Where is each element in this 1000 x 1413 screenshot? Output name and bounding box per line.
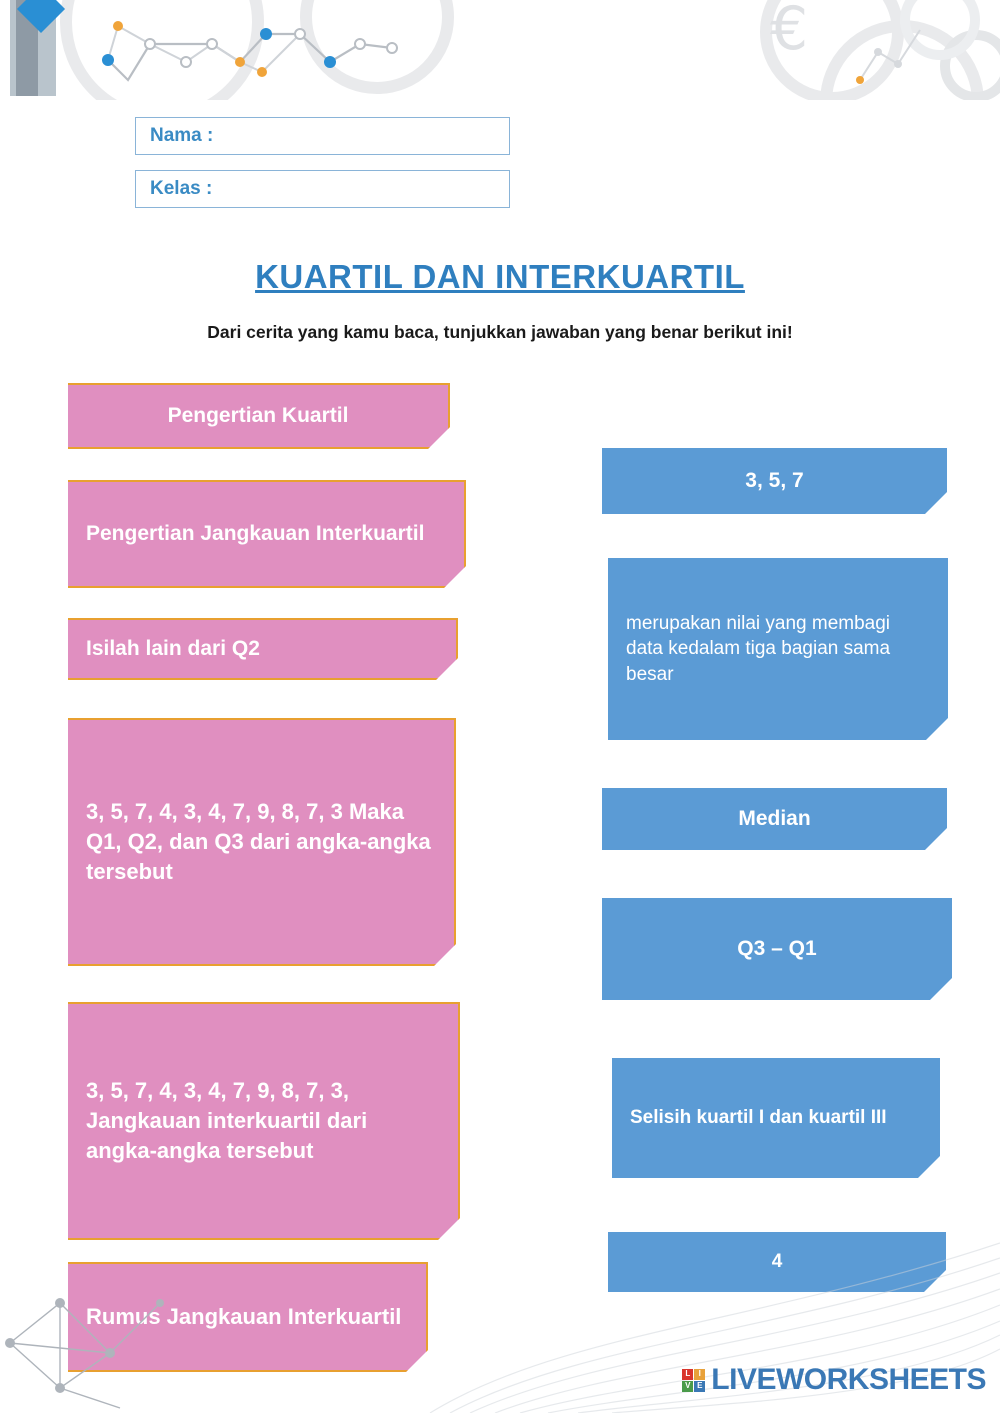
left-card-4-label: 3, 5, 7, 4, 3, 4, 7, 9, 8, 7, 3 Maka Q1,… [86,797,436,886]
kelas-label: Kelas : [150,178,212,200]
logo-letter-l: L [682,1369,693,1380]
right-card-1-label: 3, 5, 7 [745,467,803,495]
logo-wordmark: LIVEWORKSHEETS [711,1363,986,1397]
logo-letter-i: I [694,1369,705,1380]
nama-label: Nama : [150,125,213,147]
liveworksheets-logo: L I V E LIVEWORKSHEETS [682,1363,986,1397]
right-card-1[interactable]: 3, 5, 7 [602,448,947,514]
right-card-5[interactable]: Selisih kuartil I dan kuartil III [612,1058,940,1178]
logo-letter-grid: L I V E [682,1369,705,1392]
right-card-6-label: 4 [772,1249,783,1275]
left-card-6[interactable]: Rumus Jangkauan Interkuartil [68,1262,428,1372]
logo-letter-v: V [682,1381,693,1392]
right-card-3[interactable]: Median [602,788,947,850]
right-card-6[interactable]: 4 [608,1232,946,1292]
page-title: KUARTIL DAN INTERKUARTIL [0,258,1000,296]
right-card-5-label: Selisih kuartil I dan kuartil III [630,1105,887,1131]
kelas-field[interactable]: Kelas : [135,170,510,208]
logo-letter-e: E [694,1381,705,1392]
nama-field[interactable]: Nama : [135,117,510,155]
left-card-1-label: Pengertian Kuartil [168,402,349,430]
left-card-2-label: Pengertian Jangkauan Interkuartil [86,520,424,548]
left-card-2[interactable]: Pengertian Jangkauan Interkuartil [68,480,466,588]
right-card-3-label: Median [738,805,810,833]
network-graph-icon [0,0,1000,100]
header-banner: € [0,0,1000,100]
left-card-3[interactable]: Isilah lain dari Q2 [68,618,458,680]
page-subtitle: Dari cerita yang kamu baca, tunjukkan ja… [0,322,1000,343]
left-card-1[interactable]: Pengertian Kuartil [68,383,450,449]
right-card-4-label: Q3 – Q1 [737,935,816,963]
left-card-3-label: Isilah lain dari Q2 [86,635,260,663]
right-card-2-label: merupakan nilai yang membagi data kedala… [626,611,930,688]
left-card-4[interactable]: 3, 5, 7, 4, 3, 4, 7, 9, 8, 7, 3 Maka Q1,… [68,718,456,966]
left-card-5-label: 3, 5, 7, 4, 3, 4, 7, 9, 8, 7, 3, Jangkau… [86,1076,440,1165]
right-card-4[interactable]: Q3 – Q1 [602,898,952,1000]
left-card-5[interactable]: 3, 5, 7, 4, 3, 4, 7, 9, 8, 7, 3, Jangkau… [68,1002,460,1240]
right-card-2[interactable]: merupakan nilai yang membagi data kedala… [608,558,948,740]
left-card-6-label: Rumus Jangkauan Interkuartil [86,1302,401,1332]
